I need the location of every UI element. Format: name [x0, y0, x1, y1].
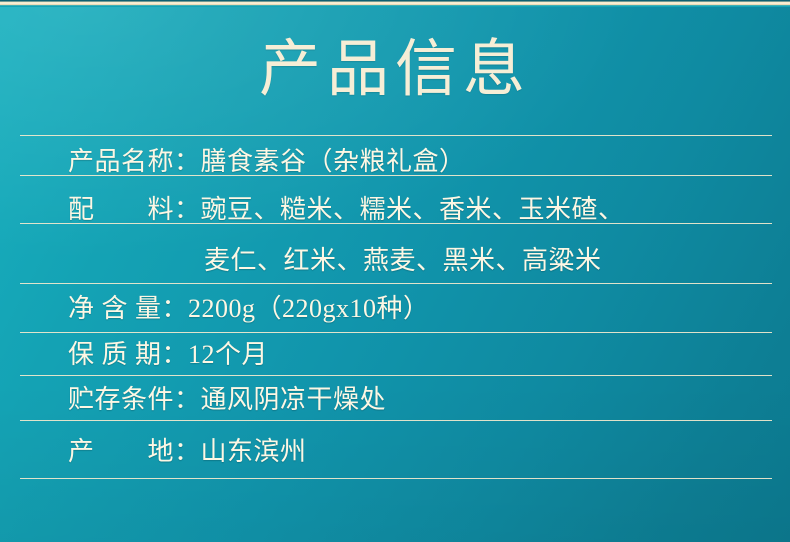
spec-table: 产品名称：膳食素谷（杂粮礼盒） 配 料：豌豆、糙米、糯米、香米、玉米碴、 麦仁、… — [0, 0, 790, 542]
spec-row-storage-conditions: 贮存条件：通风阴凉干燥处 — [68, 385, 386, 415]
divider-line — [20, 478, 772, 479]
spec-row-shelf-life: 保 质 期：12个月 — [68, 340, 268, 370]
spec-row-ingredients-continued: 麦仁、红米、燕麦、黑米、高粱米 — [204, 246, 602, 276]
spec-row-origin: 产 地：山东滨州 — [68, 437, 307, 467]
divider-line — [20, 332, 772, 333]
spec-row-product-name: 产品名称：膳食素谷（杂粮礼盒） — [68, 147, 466, 177]
divider-line — [20, 223, 772, 224]
spec-row-ingredients: 配 料：豌豆、糙米、糯米、香米、玉米碴、 — [68, 195, 625, 225]
divider-line — [20, 375, 772, 376]
spec-row-net-content: 净 含 量：2200g（220gx10种） — [68, 294, 430, 324]
divider-line — [20, 283, 772, 284]
top-gold-rule — [0, 0, 790, 7]
divider-line — [20, 135, 772, 136]
divider-line — [20, 420, 772, 421]
divider-line — [20, 175, 772, 176]
product-info-panel: 产品信息 产品名称：膳食素谷（杂粮礼盒） 配 料：豌豆、糙米、糯米、香米、玉米碴… — [0, 0, 790, 542]
